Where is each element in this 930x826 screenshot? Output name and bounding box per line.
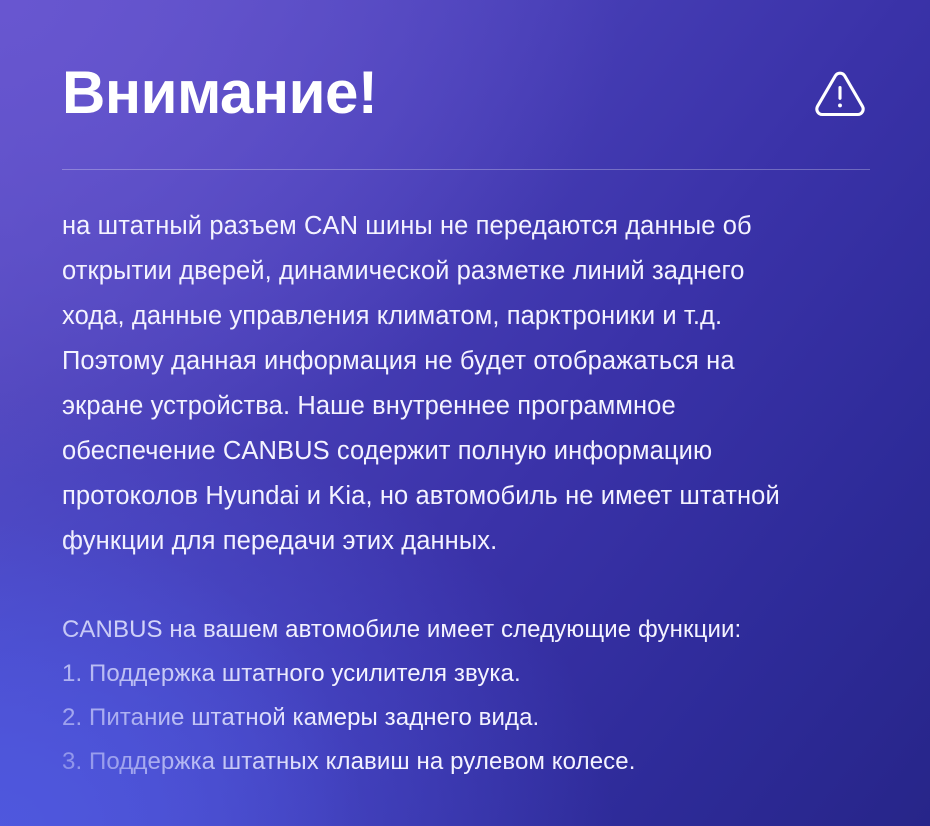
features-list: 1. Поддержка штатного усилителя звука. 2… [62, 652, 874, 784]
list-item-number: 1. [62, 660, 82, 687]
list-item-label: Поддержка штатного усилителя звука. [89, 660, 521, 687]
poster-header: Внимание! [0, 0, 930, 170]
warning-triangle-icon [812, 66, 868, 122]
warning-paragraph: на штатный разъем CAN шины не передаются… [62, 204, 874, 564]
paragraph-line: протоколов Hyundai и Kia, но автомобиль … [62, 474, 874, 519]
features-intro: CANBUS на вашем автомобиле имеет следующ… [62, 608, 874, 652]
list-item-number: 3. [62, 748, 82, 775]
list-item: 3. Поддержка штатных клавиш на рулевом к… [62, 740, 874, 784]
features-block: CANBUS на вашем автомобиле имеет следующ… [62, 608, 874, 784]
list-item-number: 2. [62, 704, 82, 731]
warning-poster: Внимание! на штатный разъем CAN шины не … [0, 0, 930, 826]
page-title: Внимание! [62, 63, 377, 123]
list-item-label: Поддержка штатных клавиш на рулевом коле… [89, 748, 635, 775]
list-item-label: Питание штатной камеры заднего вида. [89, 704, 539, 731]
list-item: 1. Поддержка штатного усилителя звука. [62, 652, 874, 696]
paragraph-line: обеспечение CANBUS содержит полную инфор… [62, 429, 874, 474]
paragraph-line: экране устройства. Наше внутреннее прогр… [62, 384, 874, 429]
paragraph-line: открытии дверей, динамической разметке л… [62, 249, 874, 294]
poster-content: на штатный разъем CAN шины не передаются… [62, 204, 874, 784]
list-item: 2. Питание штатной камеры заднего вида. [62, 696, 874, 740]
paragraph-line: хода, данные управления климатом, парктр… [62, 294, 874, 339]
paragraph-line: Поэтому данная информация не будет отобр… [62, 339, 874, 384]
paragraph-line: на штатный разъем CAN шины не передаются… [62, 204, 874, 249]
header-divider [62, 169, 870, 170]
paragraph-line: функции для передачи этих данных. [62, 519, 874, 564]
